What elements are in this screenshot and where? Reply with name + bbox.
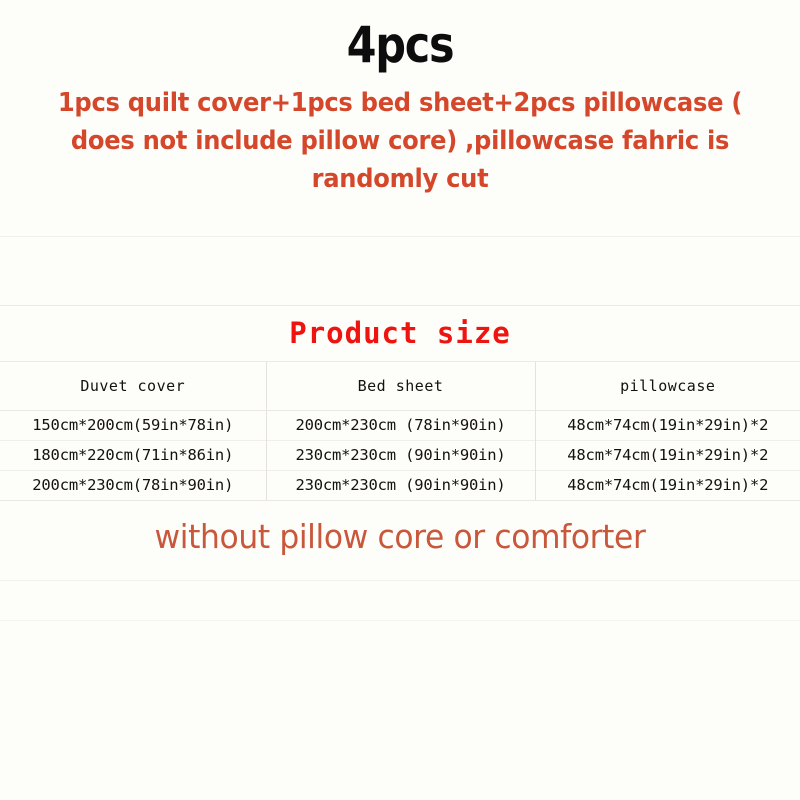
cell-bed-sheet-size: 230cm*230cm (90in*90in)	[266, 471, 535, 501]
subtitle-text: 1pcs quilt cover+1pcs bed sheet+2pcs pil…	[28, 74, 772, 198]
cell-pillowcase-size: 48cm*74cm(19in*29in)*2	[535, 471, 800, 501]
column-header-pillowcase: pillowcase	[535, 362, 800, 411]
cell-pillowcase-size: 48cm*74cm(19in*29in)*2	[535, 411, 800, 441]
column-header-duvet-cover: Duvet cover	[0, 362, 266, 411]
footer-note: without pillow core or comforter	[20, 515, 780, 559]
subtitle-line-2: does not include pillow core) ,pillowcas…	[45, 122, 756, 160]
divider-below-footer	[0, 580, 800, 581]
page-title: 4pcs	[56, 0, 744, 74]
cell-duvet-cover-size: 200cm*230cm(78in*90in)	[0, 471, 266, 501]
product-info-page: 4pcs 1pcs quilt cover+1pcs bed sheet+2pc…	[0, 0, 800, 800]
column-header-bed-sheet: Bed sheet	[266, 362, 535, 411]
table-row: 200cm*230cm(78in*90in) 230cm*230cm (90in…	[0, 471, 800, 501]
cell-duvet-cover-size: 150cm*200cm(59in*78in)	[0, 411, 266, 441]
divider-above-product-size	[0, 305, 800, 306]
cell-pillowcase-size: 48cm*74cm(19in*29in)*2	[535, 441, 800, 471]
product-size-table: Duvet cover Bed sheet pillowcase 150cm*2…	[0, 362, 800, 501]
cell-duvet-cover-size: 180cm*220cm(71in*86in)	[0, 441, 266, 471]
cell-bed-sheet-size: 200cm*230cm (78in*90in)	[266, 411, 535, 441]
table-header-row: Duvet cover Bed sheet pillowcase	[0, 362, 800, 411]
table-row: 180cm*220cm(71in*86in) 230cm*230cm (90in…	[0, 441, 800, 471]
headline-block: 4pcs 1pcs quilt cover+1pcs bed sheet+2pc…	[0, 0, 800, 198]
subtitle-line-3: randomly cut	[45, 160, 756, 198]
subtitle-line-1: 1pcs quilt cover+1pcs bed sheet+2pcs pil…	[45, 84, 756, 122]
product-size-heading: Product size	[0, 316, 800, 350]
divider-bottom-1	[0, 620, 800, 621]
table-row: 150cm*200cm(59in*78in) 200cm*230cm (78in…	[0, 411, 800, 441]
divider-above-heading-area	[0, 236, 800, 237]
cell-bed-sheet-size: 230cm*230cm (90in*90in)	[266, 441, 535, 471]
